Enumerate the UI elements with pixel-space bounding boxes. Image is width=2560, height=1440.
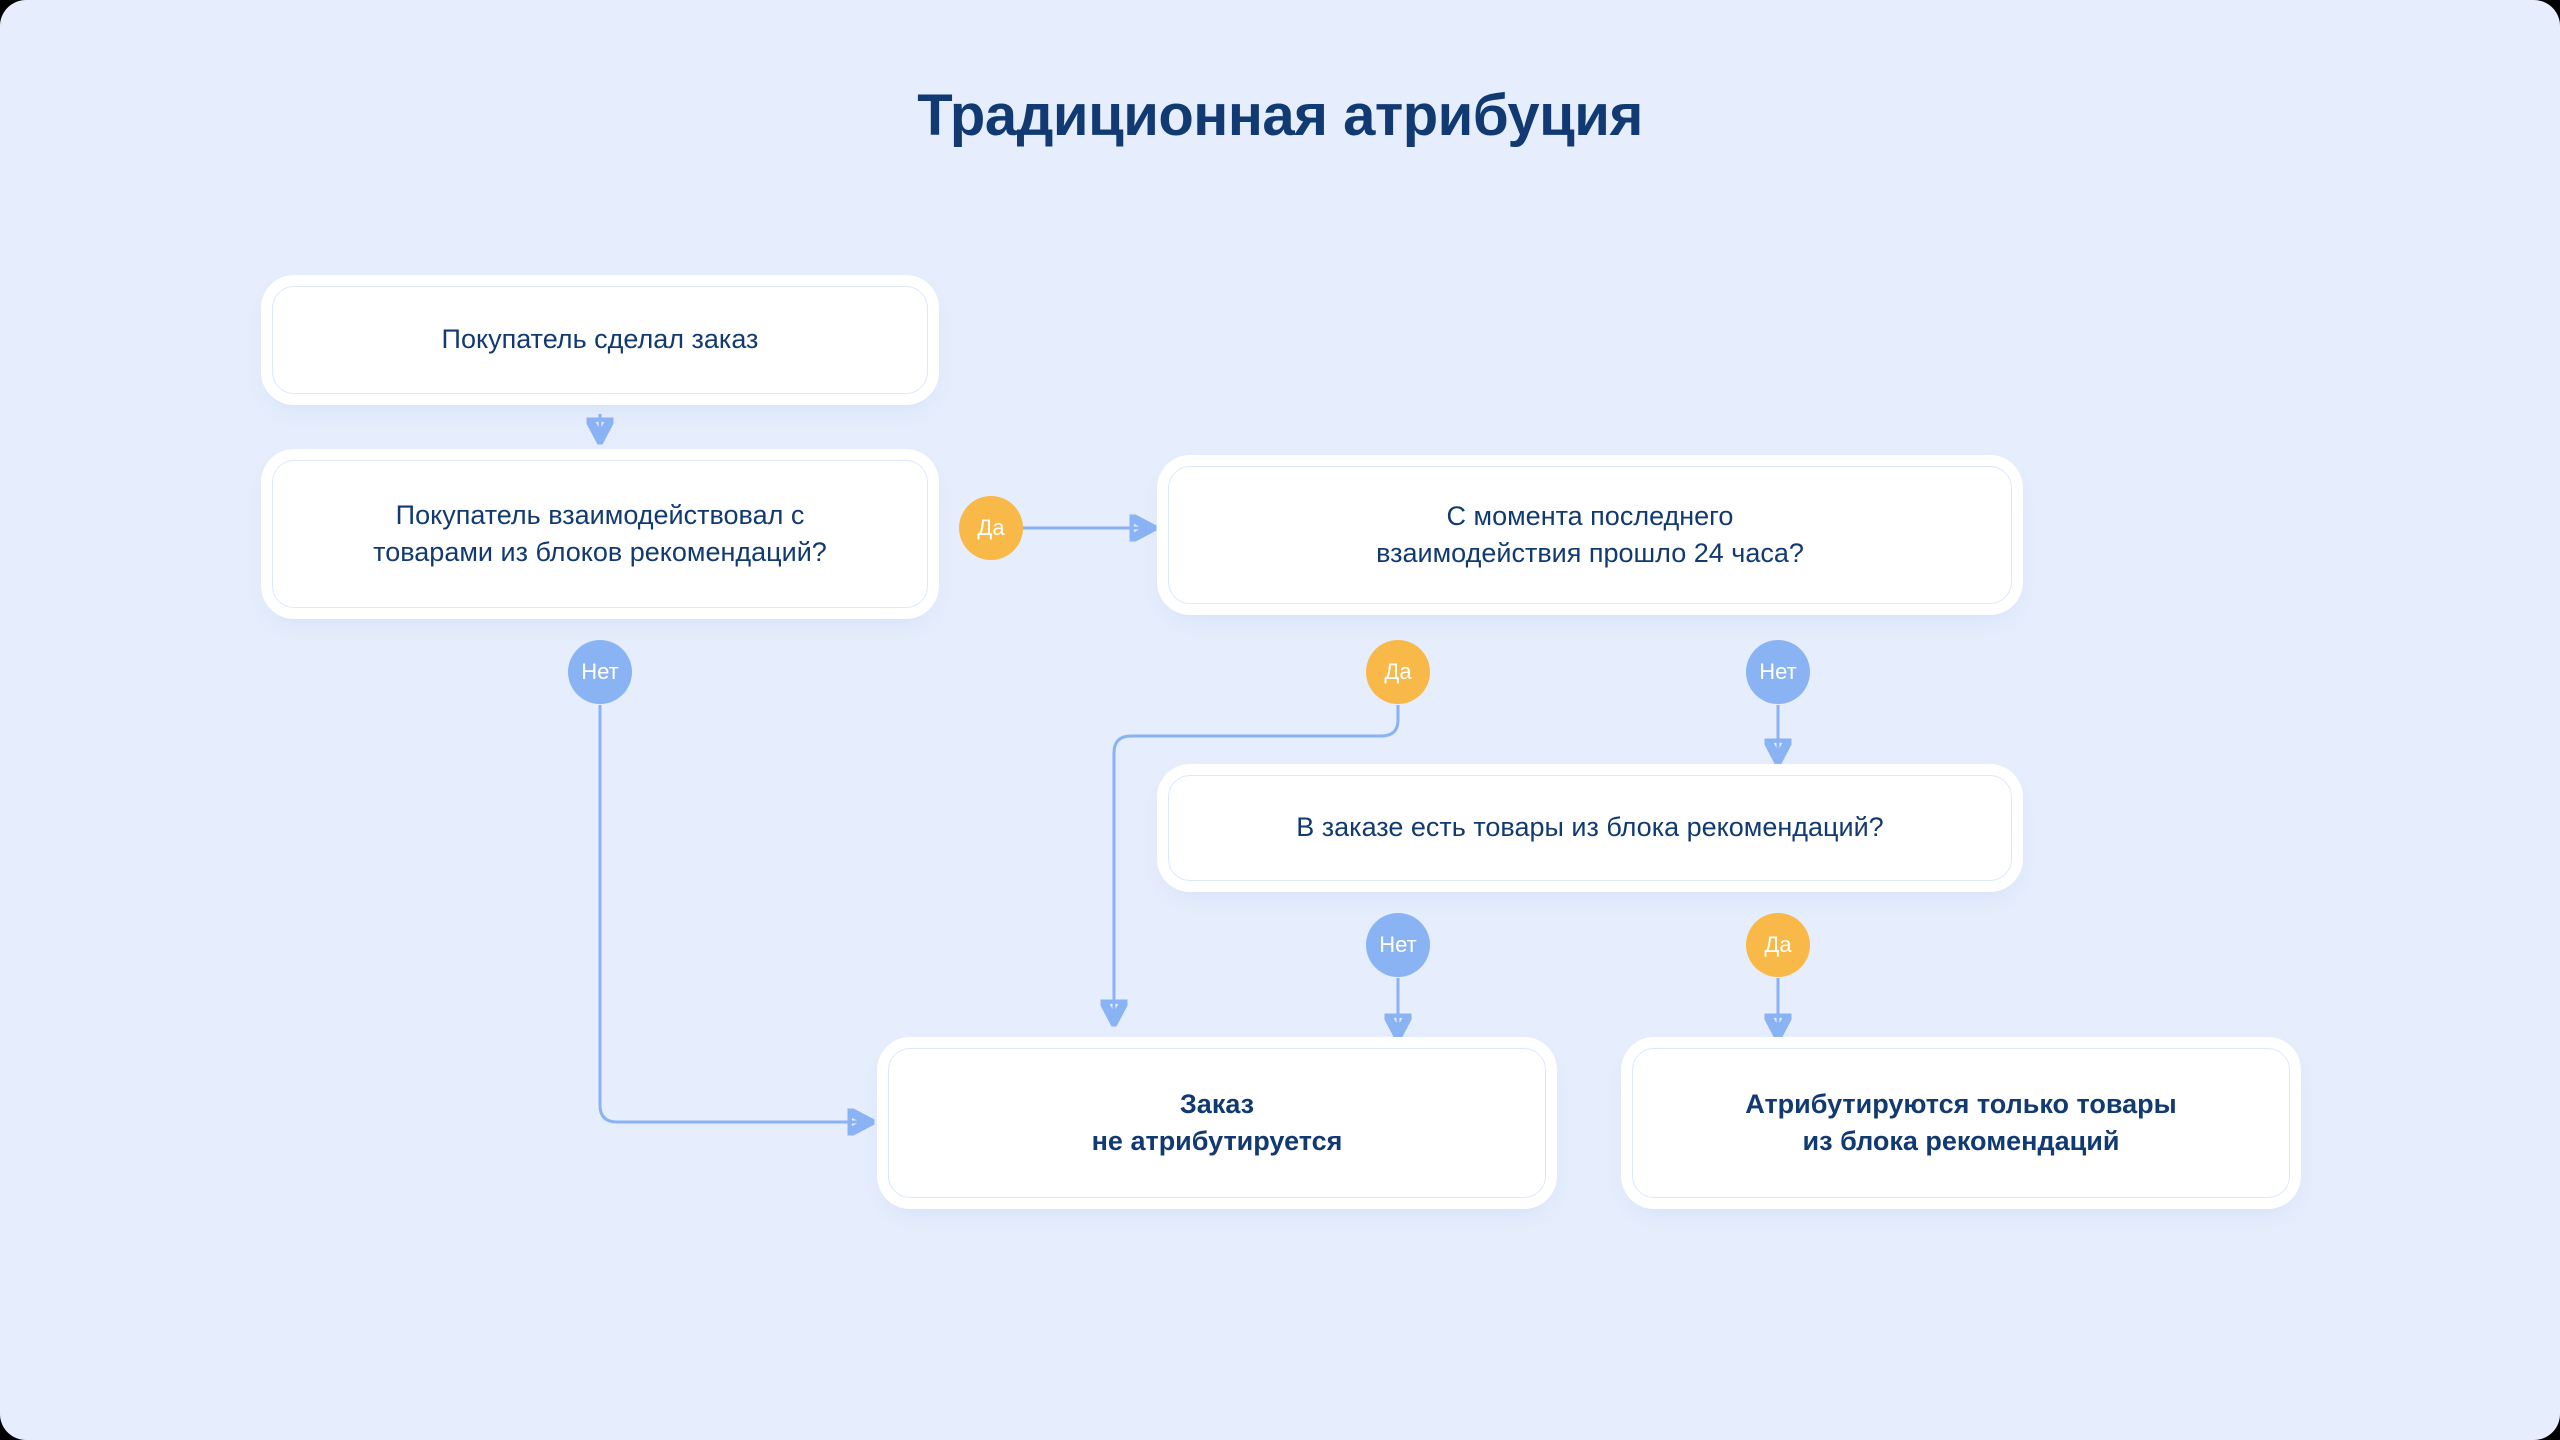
badge-interaction-yes-label: Да bbox=[977, 515, 1004, 541]
node-not-attributed-line2: не атрибутируется bbox=[915, 1123, 1519, 1160]
node-only-recommended-attributed-line1: Атрибутируются только товары bbox=[1659, 1086, 2263, 1123]
badge-interaction-no[interactable]: Нет bbox=[568, 640, 632, 704]
node-interaction-question[interactable]: Покупатель взаимодействовал с товарами и… bbox=[272, 460, 928, 608]
node-24h-question[interactable]: С момента последнего взаимодействия прош… bbox=[1168, 466, 2012, 604]
badge-items-no[interactable]: Нет bbox=[1366, 913, 1430, 977]
diagram-canvas: Традиционная атрибуция Покупатель сделал… bbox=[0, 0, 2560, 1440]
node-not-attributed[interactable]: Заказ не атрибутируется bbox=[888, 1048, 1546, 1198]
badge-24h-no-label: Нет bbox=[1759, 659, 1796, 685]
badge-24h-no[interactable]: Нет bbox=[1746, 640, 1810, 704]
badge-interaction-yes[interactable]: Да bbox=[959, 496, 1023, 560]
badge-24h-yes[interactable]: Да bbox=[1366, 640, 1430, 704]
badge-24h-yes-label: Да bbox=[1384, 659, 1411, 685]
node-order-placed[interactable]: Покупатель сделал заказ bbox=[272, 286, 928, 394]
badge-items-yes-label: Да bbox=[1764, 932, 1791, 958]
node-24h-question-line1: С момента последнего bbox=[1195, 498, 1985, 535]
badge-interaction-no-label: Нет bbox=[581, 659, 618, 685]
node-24h-question-line2: взаимодействия прошло 24 часа? bbox=[1195, 535, 1985, 572]
node-only-recommended-attributed[interactable]: Атрибутируются только товары из блока ре… bbox=[1632, 1048, 2290, 1198]
page-title: Традиционная атрибуция bbox=[0, 82, 2560, 149]
badge-items-yes[interactable]: Да bbox=[1746, 913, 1810, 977]
badge-items-no-label: Нет bbox=[1379, 932, 1416, 958]
node-interaction-question-line1: Покупатель взаимодействовал с bbox=[299, 497, 901, 534]
connector-layer bbox=[0, 0, 2560, 1440]
node-order-placed-label: Покупатель сделал заказ bbox=[299, 321, 901, 358]
arrow-interaction-no-to-not-attributed bbox=[600, 705, 866, 1122]
node-items-in-order-question[interactable]: В заказе есть товары из блока рекомендац… bbox=[1168, 775, 2012, 881]
node-items-in-order-question-label: В заказе есть товары из блока рекомендац… bbox=[1195, 809, 1985, 846]
node-interaction-question-line2: товарами из блоков рекомендаций? bbox=[299, 534, 901, 571]
node-not-attributed-line1: Заказ bbox=[915, 1086, 1519, 1123]
node-only-recommended-attributed-line2: из блока рекомендаций bbox=[1659, 1123, 2263, 1160]
